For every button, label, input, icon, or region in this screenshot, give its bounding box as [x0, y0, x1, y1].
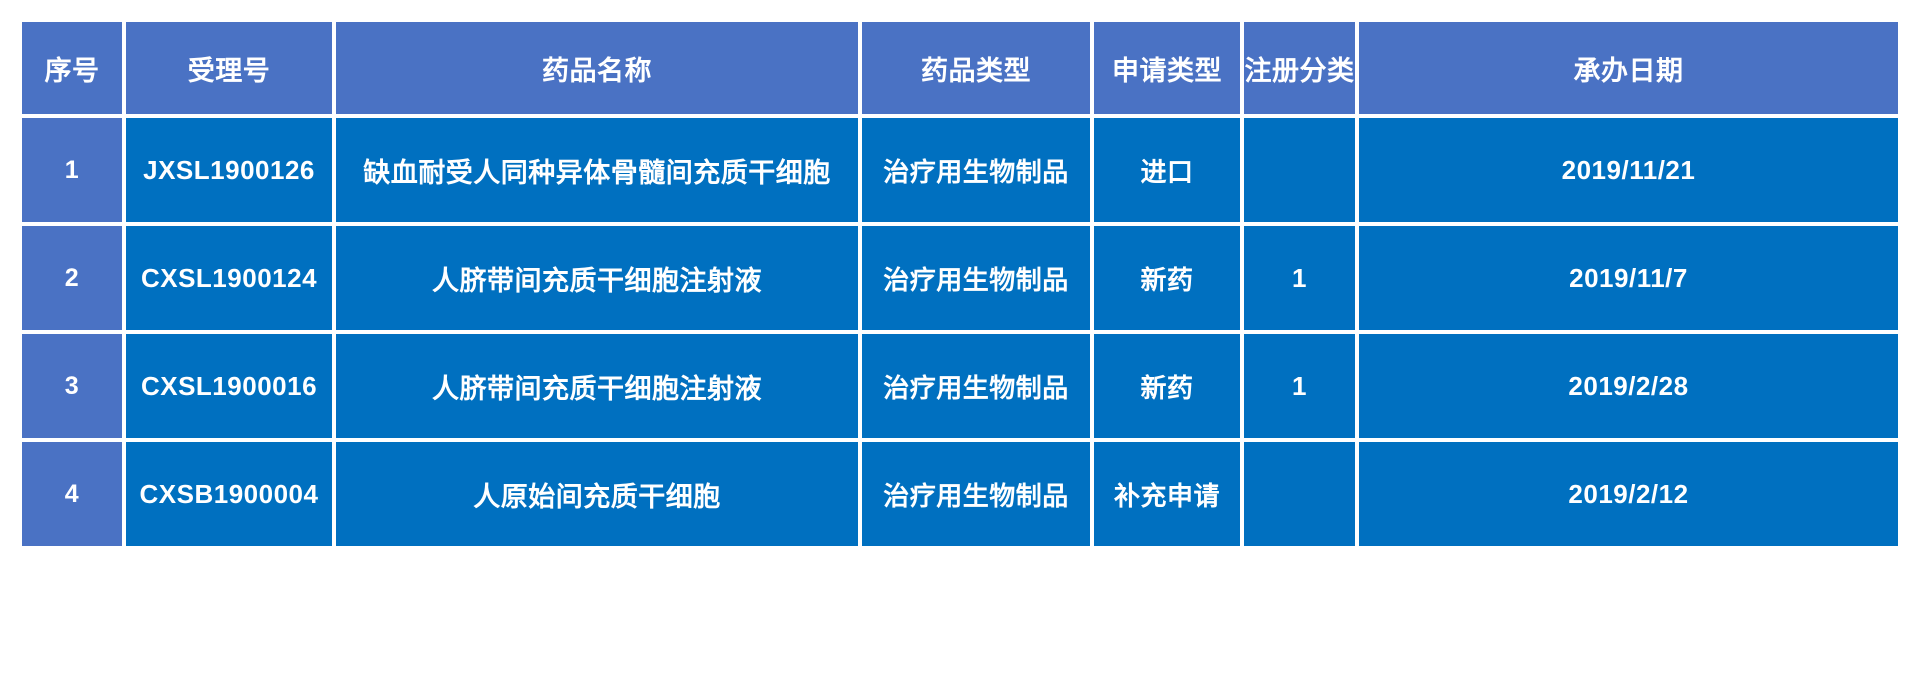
cell-index: 3: [22, 334, 122, 438]
drug-registration-table: 序号 受理号 药品名称 药品类型 申请类型 注册分类 承办日期 1 JXSL19…: [18, 18, 1902, 550]
table-row[interactable]: 1 JXSL1900126 缺血耐受人同种异体骨髓间充质干细胞 治疗用生物制品 …: [22, 118, 1898, 222]
table-row[interactable]: 3 CXSL1900016 人脐带间充质干细胞注射液 治疗用生物制品 新药 1 …: [22, 334, 1898, 438]
cell-index: 1: [22, 118, 122, 222]
table-body: 1 JXSL1900126 缺血耐受人同种异体骨髓间充质干细胞 治疗用生物制品 …: [22, 118, 1898, 546]
column-header-accept-date[interactable]: 承办日期: [1359, 22, 1898, 114]
cell-drug-name: 人原始间充质干细胞: [336, 442, 858, 546]
cell-acceptance-no: CXSL1900124: [126, 226, 332, 330]
cell-drug-type: 治疗用生物制品: [862, 334, 1090, 438]
cell-drug-name: 人脐带间充质干细胞注射液: [336, 334, 858, 438]
cell-acceptance-no: JXSL1900126: [126, 118, 332, 222]
cell-apply-type: 新药: [1094, 226, 1240, 330]
cell-reg-class: [1244, 118, 1355, 222]
cell-apply-type: 新药: [1094, 334, 1240, 438]
table-sheet: 序号 受理号 药品名称 药品类型 申请类型 注册分类 承办日期 1 JXSL19…: [0, 0, 1918, 692]
cell-index: 4: [22, 442, 122, 546]
cell-accept-date: 2019/11/7: [1359, 226, 1898, 330]
column-header-drug-name[interactable]: 药品名称: [336, 22, 858, 114]
column-header-apply-type[interactable]: 申请类型: [1094, 22, 1240, 114]
cell-drug-type: 治疗用生物制品: [862, 442, 1090, 546]
cell-drug-name: 人脐带间充质干细胞注射液: [336, 226, 858, 330]
table-row[interactable]: 2 CXSL1900124 人脐带间充质干细胞注射液 治疗用生物制品 新药 1 …: [22, 226, 1898, 330]
cell-drug-name: 缺血耐受人同种异体骨髓间充质干细胞: [336, 118, 858, 222]
cell-acceptance-no: CXSB1900004: [126, 442, 332, 546]
cell-drug-type: 治疗用生物制品: [862, 226, 1090, 330]
column-header-drug-type[interactable]: 药品类型: [862, 22, 1090, 114]
cell-accept-date: 2019/2/28: [1359, 334, 1898, 438]
column-header-reg-class[interactable]: 注册分类: [1244, 22, 1355, 114]
table-header: 序号 受理号 药品名称 药品类型 申请类型 注册分类 承办日期: [22, 22, 1898, 114]
cell-reg-class: 1: [1244, 226, 1355, 330]
cell-accept-date: 2019/11/21: [1359, 118, 1898, 222]
cell-drug-type: 治疗用生物制品: [862, 118, 1090, 222]
header-row: 序号 受理号 药品名称 药品类型 申请类型 注册分类 承办日期: [22, 22, 1898, 114]
cell-index: 2: [22, 226, 122, 330]
cell-reg-class: 1: [1244, 334, 1355, 438]
cell-apply-type: 进口: [1094, 118, 1240, 222]
cell-apply-type: 补充申请: [1094, 442, 1240, 546]
column-header-acceptance-no[interactable]: 受理号: [126, 22, 332, 114]
table-row[interactable]: 4 CXSB1900004 人原始间充质干细胞 治疗用生物制品 补充申请 201…: [22, 442, 1898, 546]
column-header-index[interactable]: 序号: [22, 22, 122, 114]
cell-reg-class: [1244, 442, 1355, 546]
cell-accept-date: 2019/2/12: [1359, 442, 1898, 546]
cell-acceptance-no: CXSL1900016: [126, 334, 332, 438]
